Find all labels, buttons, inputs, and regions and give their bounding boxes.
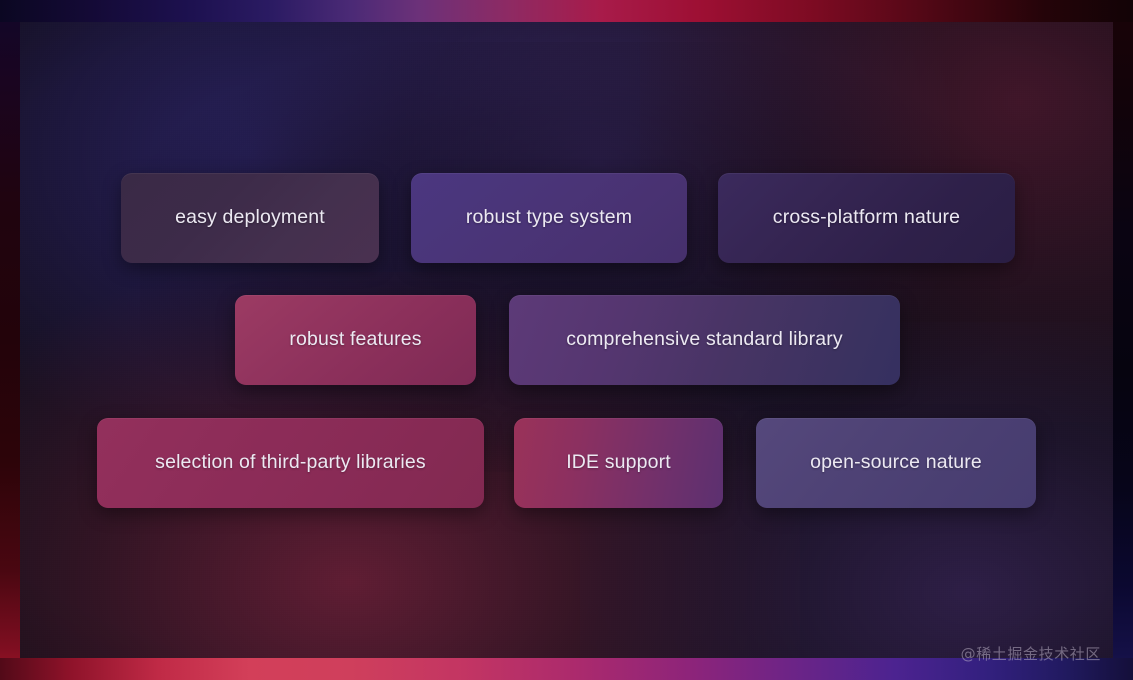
tag-card-selection-of-third-party-libraries[interactable]: selection of third-party libraries — [97, 418, 484, 508]
watermark-text: @稀土掘金技术社区 — [961, 643, 1101, 664]
tag-card-cross-platform-nature[interactable]: cross-platform nature — [718, 173, 1015, 263]
tag-card-open-source-nature[interactable]: open-source nature — [756, 418, 1036, 508]
word-cloud-canvas: easy deployment robust type system cross… — [0, 0, 1133, 680]
tag-row-1: easy deployment robust type system cross… — [121, 173, 1015, 263]
tag-card-label: comprehensive standard library — [566, 330, 843, 350]
tag-card-label: robust features — [289, 330, 421, 350]
tag-card-label: open-source nature — [810, 453, 982, 473]
tag-card-ide-support[interactable]: IDE support — [514, 418, 723, 508]
tag-card-label: robust type system — [466, 208, 632, 228]
tag-card-robust-features[interactable]: robust features — [235, 295, 476, 385]
tag-card-label: easy deployment — [175, 208, 325, 228]
tag-card-label: IDE support — [566, 453, 671, 473]
top-gradient-bar — [0, 0, 1133, 22]
tag-card-label: cross-platform nature — [773, 208, 960, 228]
tag-card-label: selection of third-party libraries — [155, 453, 426, 473]
content-stage: easy deployment robust type system cross… — [20, 22, 1113, 658]
tag-cards-layer: easy deployment robust type system cross… — [20, 22, 1113, 658]
tag-card-robust-type-system[interactable]: robust type system — [411, 173, 687, 263]
left-gradient-bar — [0, 0, 20, 680]
tag-card-easy-deployment[interactable]: easy deployment — [121, 173, 379, 263]
tag-row-2: robust features comprehensive standard l… — [235, 295, 900, 385]
right-gradient-bar — [1113, 0, 1133, 680]
tag-row-3: selection of third-party libraries IDE s… — [97, 418, 1036, 508]
tag-card-comprehensive-standard-library[interactable]: comprehensive standard library — [509, 295, 900, 385]
